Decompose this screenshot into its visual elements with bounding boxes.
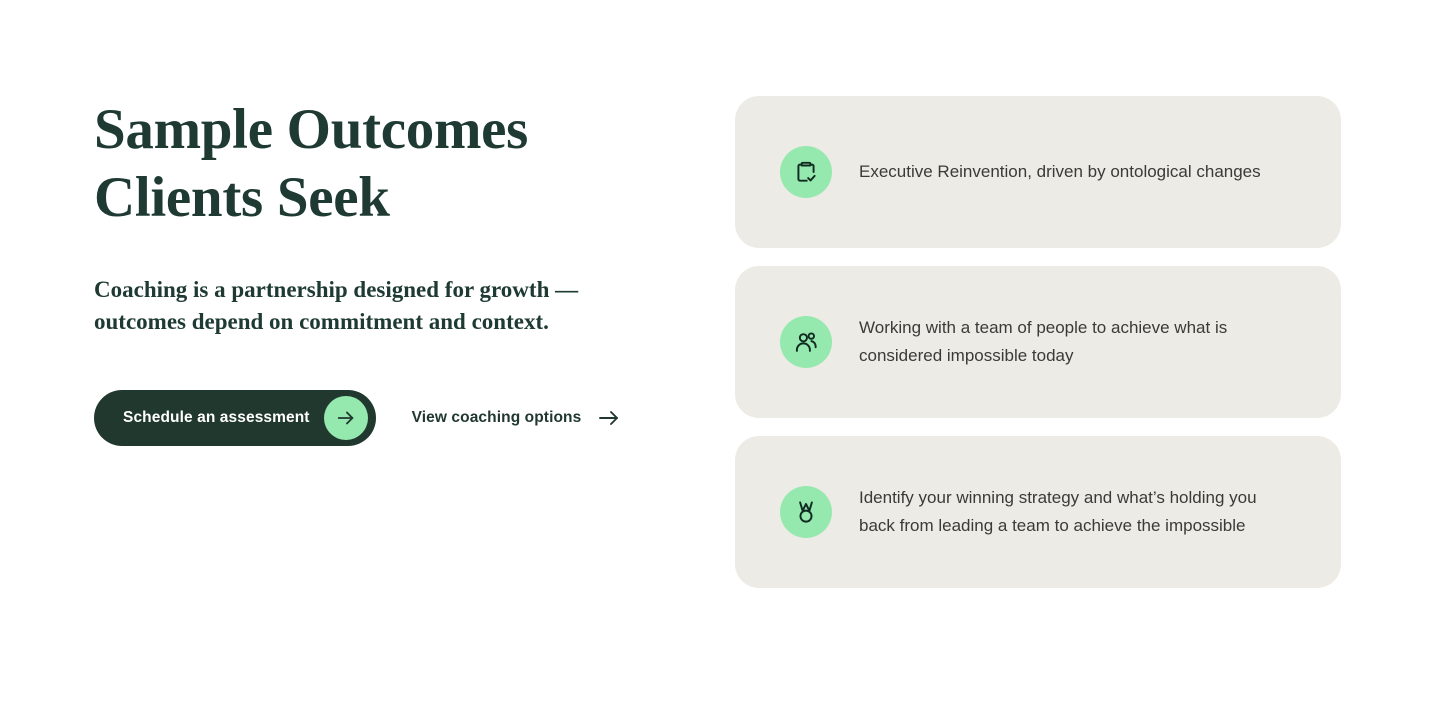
clipboard-check-icon	[780, 146, 832, 198]
outcome-card-text: Executive Reinvention, driven by ontolog…	[859, 158, 1261, 186]
users-icon	[780, 316, 832, 368]
outcome-card-text: Working with a team of people to achieve…	[859, 314, 1289, 370]
view-coaching-options-button[interactable]: View coaching options	[412, 406, 622, 430]
arrow-right-icon	[324, 396, 368, 440]
schedule-assessment-button[interactable]: Schedule an assessment	[94, 390, 376, 446]
view-coaching-options-label: View coaching options	[412, 409, 582, 427]
hero-section: Sample Outcomes Clients Seek Coaching is…	[94, 96, 694, 446]
page-title: Sample Outcomes Clients Seek	[94, 96, 564, 232]
cta-row: Schedule an assessment View coaching opt…	[94, 338, 694, 446]
outcome-card[interactable]: Working with a team of people to achieve…	[735, 266, 1341, 418]
page-root: Sample Outcomes Clients Seek Coaching is…	[0, 0, 1438, 708]
outcome-card[interactable]: Identify your winning strategy and what’…	[735, 436, 1341, 588]
outcome-card[interactable]: Executive Reinvention, driven by ontolog…	[735, 96, 1341, 248]
arrow-right-icon	[597, 406, 621, 430]
medal-icon	[780, 486, 832, 538]
outcome-card-text: Identify your winning strategy and what’…	[859, 484, 1289, 540]
hero-subheading: Coaching is a partnership designed for g…	[94, 232, 639, 338]
outcomes-card-list: Executive Reinvention, driven by ontolog…	[735, 96, 1341, 588]
schedule-assessment-label: Schedule an assessment	[123, 409, 324, 427]
